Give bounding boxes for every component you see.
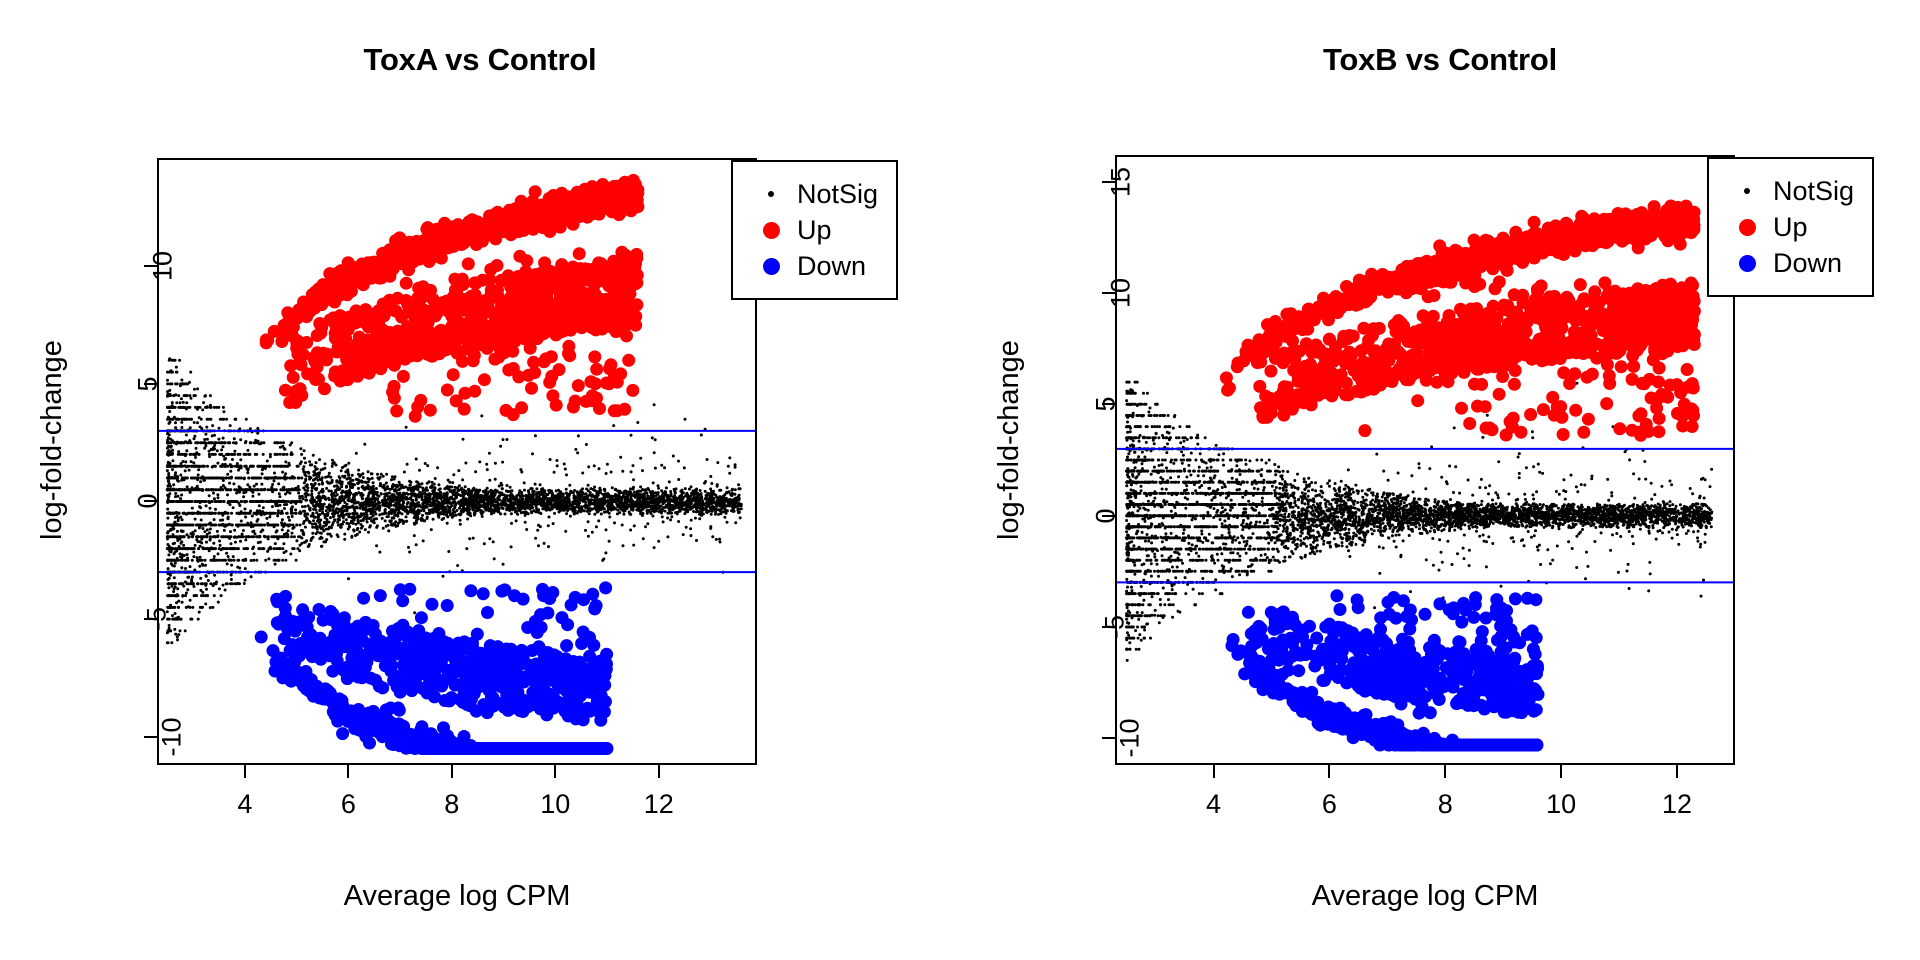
y-axis-title-toxb: log-fold-change xyxy=(993,340,1026,540)
legend-toxb: NotSig Up Down xyxy=(1707,157,1874,297)
plot-border-toxb xyxy=(1115,155,1735,765)
x-axis-tick xyxy=(554,765,556,778)
plot-panel-toxa: ToxA vs Control log-fold-change Average … xyxy=(0,0,960,960)
legend-row-up: Up xyxy=(749,212,878,248)
plot-panel-toxb: ToxB vs Control log-fold-change Average … xyxy=(960,0,1920,960)
legend-label-notsig: NotSig xyxy=(793,181,878,208)
plot-area-toxa xyxy=(157,158,757,765)
y-axis-tick-label: 0 xyxy=(133,494,164,509)
x-axis-title-toxa: Average log CPM xyxy=(344,880,571,913)
x-axis-tick xyxy=(1560,765,1562,778)
legend-row-down: Down xyxy=(1725,245,1854,281)
x-axis-tick xyxy=(1213,765,1215,778)
x-axis-tick-label: 6 xyxy=(1322,789,1337,820)
x-axis-tick-label: 4 xyxy=(1206,789,1221,820)
x-axis-tick xyxy=(1328,765,1330,778)
x-axis-tick xyxy=(1676,765,1678,778)
y-axis-tick xyxy=(144,736,157,738)
x-axis-tick xyxy=(451,765,453,778)
legend-row-notsig: NotSig xyxy=(749,176,878,212)
plot-border-toxa xyxy=(157,158,757,765)
x-axis-tick xyxy=(658,765,660,778)
legend-marker-up-icon xyxy=(749,222,793,239)
y-axis-tick-label: 0 xyxy=(1091,508,1122,523)
y-axis-tick-label: 5 xyxy=(133,376,164,391)
legend-marker-notsig-icon xyxy=(749,191,793,197)
x-axis-tick-label: 8 xyxy=(1438,789,1453,820)
x-axis-tick-label: 10 xyxy=(1546,789,1576,820)
x-axis-tick xyxy=(347,765,349,778)
x-axis-tick-label: 12 xyxy=(644,789,674,820)
x-axis-tick xyxy=(1444,765,1446,778)
legend-marker-down-icon xyxy=(749,258,793,275)
y-axis-title-toxa: log-fold-change xyxy=(36,340,69,540)
y-axis-tick-label: 10 xyxy=(148,251,179,281)
y-axis-tick-label: -10 xyxy=(157,717,188,756)
legend-label-notsig: NotSig xyxy=(1769,178,1854,205)
x-axis-tick-label: 6 xyxy=(341,789,356,820)
y-axis-tick-label: -10 xyxy=(1115,719,1146,758)
legend-marker-notsig-icon xyxy=(1725,188,1769,194)
legend-row-notsig: NotSig xyxy=(1725,173,1854,209)
legend-label-up: Up xyxy=(793,217,832,244)
x-axis-tick-label: 10 xyxy=(540,789,570,820)
y-axis-tick-label: 10 xyxy=(1106,278,1137,308)
y-axis-tick-label: 15 xyxy=(1106,167,1137,197)
x-axis-title-toxb: Average log CPM xyxy=(1312,880,1539,913)
x-axis-tick-label: 8 xyxy=(444,789,459,820)
x-axis-tick xyxy=(244,765,246,778)
legend-row-up: Up xyxy=(1725,209,1854,245)
y-axis-tick-label: -5 xyxy=(142,607,173,631)
y-axis-tick-label: -5 xyxy=(1100,615,1131,639)
legend-label-down: Down xyxy=(793,253,866,280)
y-axis-tick xyxy=(1102,737,1115,739)
figure-canvas: ToxA vs Control log-fold-change Average … xyxy=(0,0,1920,960)
x-axis-tick-label: 12 xyxy=(1662,789,1692,820)
legend-label-up: Up xyxy=(1769,214,1808,241)
legend-row-down: Down xyxy=(749,248,878,284)
y-axis-tick-label: 5 xyxy=(1091,397,1122,412)
x-axis-tick-label: 4 xyxy=(237,789,252,820)
legend-label-down: Down xyxy=(1769,250,1842,277)
plot-area-toxb xyxy=(1115,155,1735,765)
legend-marker-up-icon xyxy=(1725,219,1769,236)
panel-title-toxb: ToxB vs Control xyxy=(960,42,1920,78)
panel-title-toxa: ToxA vs Control xyxy=(0,42,960,78)
legend-marker-down-icon xyxy=(1725,255,1769,272)
legend-toxa: NotSig Up Down xyxy=(731,160,898,300)
